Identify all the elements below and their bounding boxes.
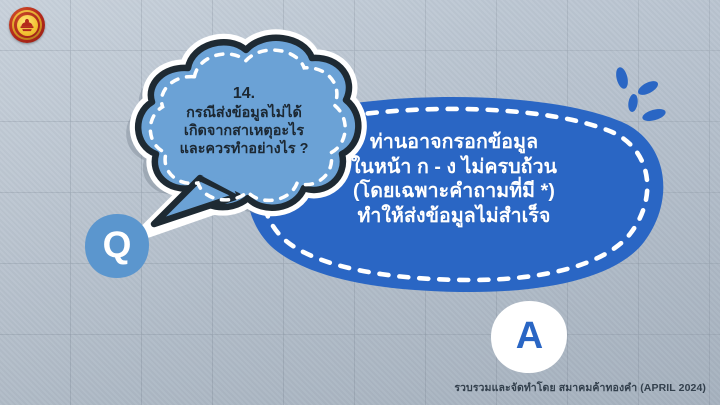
question-text: 14. กรณีส่งข้อมูลไม่ได้ เกิดจากสาเหตุอะไ… (118, 84, 370, 159)
question-badge-label: Q (83, 212, 151, 280)
association-logo (9, 7, 45, 43)
answer-badge: A (489, 299, 569, 375)
question-badge: Q (83, 212, 151, 280)
question-line-1: กรณีส่งข้อมูลไม่ได้ (118, 104, 370, 122)
crown-icon (17, 15, 37, 35)
question-number: 14. (118, 84, 370, 104)
footer-credit: รวบรวมและจัดทำโดย สมาคมค้าทองคำ (APRIL 2… (454, 379, 706, 396)
logo-core (17, 15, 38, 36)
question-line-3: และควรทำอย่างไร ? (118, 140, 370, 158)
answer-badge-label: A (489, 299, 569, 375)
slide-canvas: ท่านอาจกรอกข้อมูล ในหน้า ก - ง ไม่ครบถ้ว… (0, 0, 720, 405)
question-cloud-bubble: 14. กรณีส่งข้อมูลไม่ได้ เกิดจากสาเหตุอะไ… (118, 28, 370, 260)
question-line-2: เกิดจากสาเหตุอะไร (118, 122, 370, 140)
